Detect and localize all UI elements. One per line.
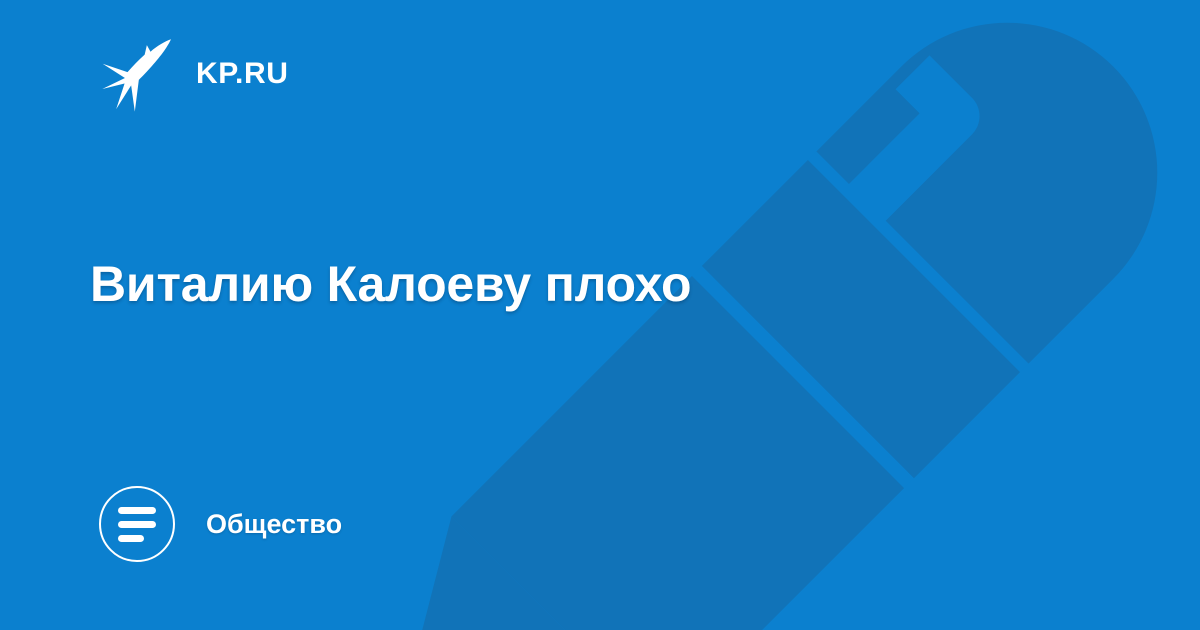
swallow-bird-icon — [100, 36, 174, 112]
article-share-card: KP.RU Виталию Калоеву плохо Общество — [0, 0, 1200, 630]
rubric-label: Общество — [206, 511, 342, 538]
brand-logo[interactable]: KP.RU — [100, 36, 288, 112]
rubric-row[interactable]: Общество — [99, 486, 342, 562]
hamburger-line-2 — [118, 521, 156, 528]
pencil-icon — [272, 0, 1200, 630]
brand-wordmark: KP.RU — [196, 59, 288, 89]
hamburger-lines-icon[interactable] — [99, 486, 175, 562]
hamburger-line-3 — [118, 535, 144, 542]
article-headline: Виталию Калоеву плохо — [90, 255, 930, 313]
hamburger-line-1 — [118, 507, 156, 514]
